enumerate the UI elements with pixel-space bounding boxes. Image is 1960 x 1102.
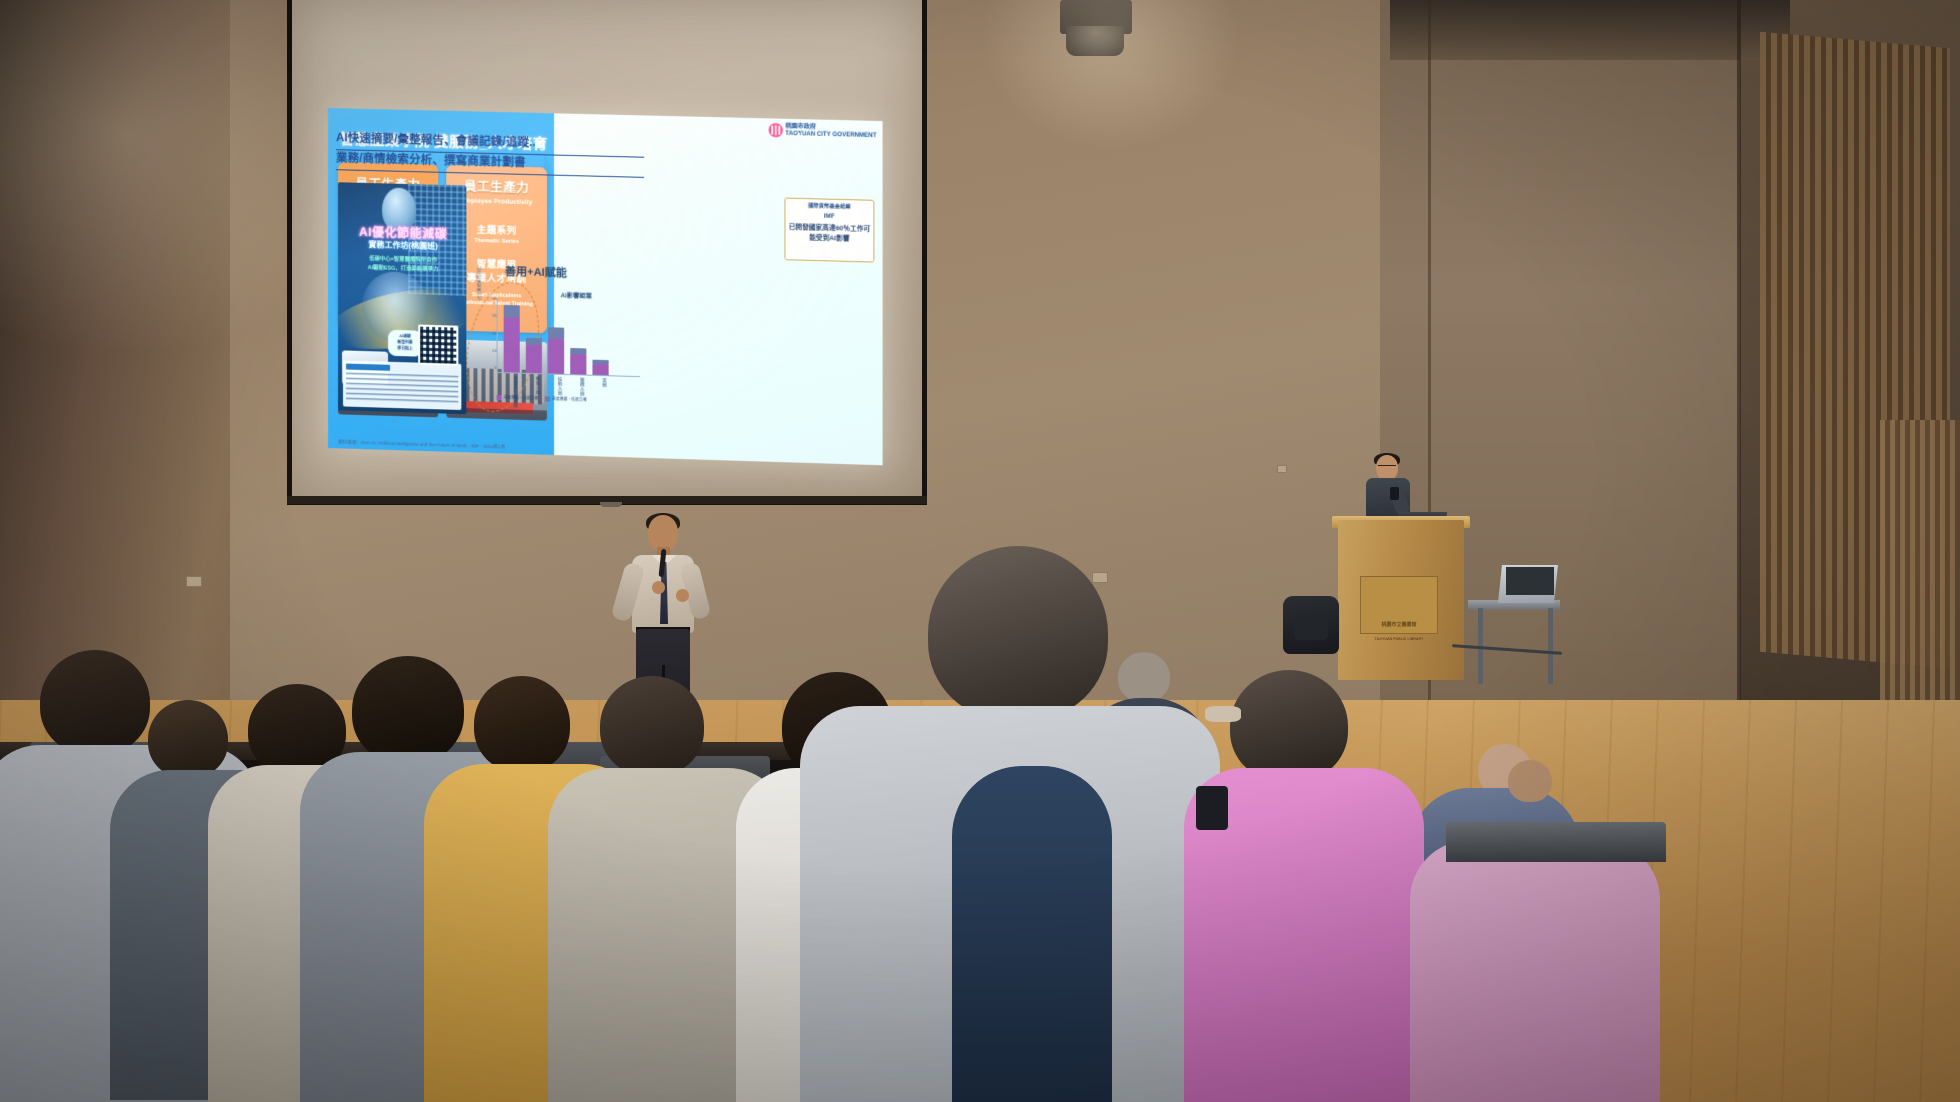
photo-scene: 智慧產業學院 雙服務_人才培育 員工生產力 Employee Productiv… <box>0 0 1960 1102</box>
chart-y-ticks: 40 30 20 10 0 <box>486 295 497 370</box>
audience-head-4 <box>352 656 464 764</box>
chart-bar <box>548 327 564 339</box>
audience-head-m1 <box>1118 652 1170 702</box>
audience-head-1 <box>40 650 150 755</box>
workshop-poster: AI優化節能減碳 實務工作坊(桃園班) 低碳中心×智慧醫療院所合作 AI驅動ES… <box>338 182 466 414</box>
chart-bar <box>570 354 586 375</box>
ytick-2: 20 <box>492 330 496 335</box>
audience-collar-8 <box>952 766 1112 1102</box>
imf-stat-text: 已開發國家高達60％工作可能受到AI影響 <box>789 223 871 246</box>
chart-bar <box>526 345 542 373</box>
taoyuan-logo-icon <box>768 122 783 138</box>
slide-kicker-text: 善用+AI賦能 <box>480 262 591 281</box>
imf-callout-box: 國際貨幣基金組織 IMF 已開發國家高達60％工作可能受到AI影響 <box>784 198 874 263</box>
audience-head-2 <box>148 700 228 778</box>
projected-slide: 智慧產業學院 雙服務_人才培育 員工生產力 Employee Productiv… <box>328 108 883 465</box>
poster-footer-text-lines <box>346 373 458 406</box>
podium-label-cn: 桃園市立圖書館 <box>1381 622 1416 628</box>
imf-abbrev: IMF <box>789 212 871 221</box>
presenter-hand-left <box>652 581 665 594</box>
chart-x-label: 商業及行政服務 <box>503 375 519 408</box>
chart-plot-area: 40 30 20 10 0 <box>497 299 640 377</box>
ytick-3: 10 <box>492 347 496 352</box>
poster-footer <box>343 360 461 410</box>
chart-bars <box>500 298 639 376</box>
seat-back-6 <box>1446 822 1666 862</box>
chart-bar <box>592 364 608 376</box>
legend-label: 高度暴露‧高度互補 <box>504 395 538 401</box>
audience-head-8 <box>928 546 1108 721</box>
legend-swatch <box>497 395 502 400</box>
chart-x-label: 服務人員 <box>569 377 585 410</box>
audience-phone-icon <box>1196 786 1228 830</box>
backpack-pocket <box>1294 618 1328 640</box>
wall-outlet-mid <box>1277 465 1287 473</box>
poster-callout-bubble: AI減碳 新型列車 即日起上 <box>388 330 422 357</box>
podium-label: 桃園市立圖書館 TAOYUAN PUBLIC LIBRARY <box>1360 615 1438 643</box>
chart-x-label: 技術人員 <box>547 376 563 409</box>
chart-bar <box>504 305 520 317</box>
side-table-leg-right <box>1548 608 1553 684</box>
legend-swatch <box>545 396 550 401</box>
poster-footer-bar <box>346 364 390 371</box>
chart-x-label: 專業人員 <box>525 376 541 409</box>
side-table-laptop-screen <box>1506 567 1554 595</box>
screen-pull-knob <box>600 502 622 507</box>
podium-label-en: TAOYUAN PUBLIC LIBRARY <box>1375 637 1424 641</box>
qr-code-icon <box>418 325 458 366</box>
chart-bar <box>504 316 520 372</box>
ytick-0: 40 <box>492 296 496 301</box>
wall-seam-2 <box>1737 0 1741 700</box>
glasses-temple-icon <box>1205 706 1241 722</box>
chart-bar <box>548 338 564 374</box>
audience-head-6 <box>600 676 704 776</box>
audience-head-9 <box>1230 670 1348 782</box>
ytick-4: 0 <box>494 365 496 370</box>
ytick-1: 30 <box>492 313 496 318</box>
chart-ylabel: 占工業就業百分比 <box>476 266 482 300</box>
legend-label: 高度暴露‧低度互補 <box>552 397 587 403</box>
chart-bar-group <box>504 305 520 372</box>
chart-x-labels: 商業及行政服務專業人員技術人員服務人員其他 <box>499 375 640 412</box>
poster-subtitle: 實務工作坊(桃園班) <box>344 238 462 252</box>
phone-icon <box>1390 487 1399 500</box>
glasses-icon <box>1378 465 1396 469</box>
presenter-head <box>648 515 678 551</box>
audience-head-11 <box>1508 760 1552 802</box>
chart-bar-group <box>526 338 542 374</box>
chart-bar-group <box>592 360 608 375</box>
chart-x-label: 其他 <box>591 378 607 411</box>
ai-impact-bar-chart: AI影響鉅業 占工業就業百分比 40 30 20 10 0 商業及行政服務專業人… <box>480 288 647 411</box>
wall-outlet-right <box>1092 572 1108 583</box>
audience-head-5 <box>474 676 570 772</box>
chart-bar-group <box>548 327 564 374</box>
taoyuan-government-logo: 桃園市政府 TAOYUAN CITY GOVERNMENT <box>768 122 876 140</box>
chart-bar-group <box>570 348 586 375</box>
audience-body-10 <box>1410 840 1660 1102</box>
logo-text: 桃園市政府 TAOYUAN CITY GOVERNMENT <box>785 123 876 139</box>
wall-outlet-left <box>186 576 202 587</box>
stage-light-head <box>1066 26 1124 56</box>
presenter-hand-right <box>676 589 689 602</box>
slide-right-title: AI快速摘要/彙整報告、會議記錄/追蹤.. 業務/商情檢索分析、撰寫商業計劃書 <box>336 130 644 177</box>
ceiling-strip <box>1390 0 1790 60</box>
